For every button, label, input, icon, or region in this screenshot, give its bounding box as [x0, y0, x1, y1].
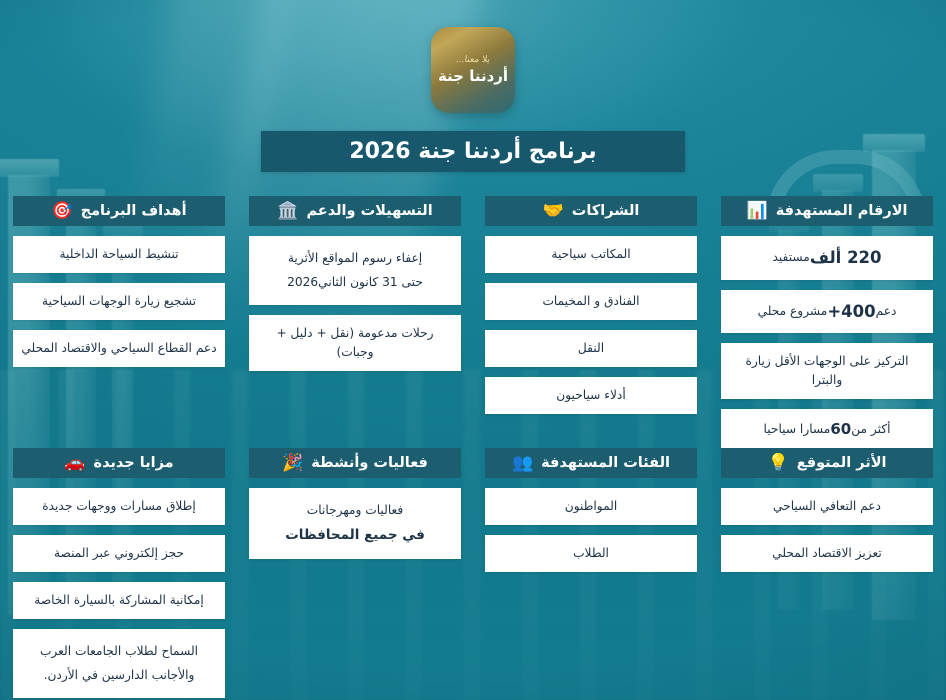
- card-item[interactable]: إطلاق مسارات ووجهات جديدة: [13, 488, 225, 525]
- card-item[interactable]: دعم التعافي السياحي: [721, 488, 933, 525]
- card-item[interactable]: إمكانية المشاركة بالسيارة الخاصة: [13, 582, 225, 619]
- card-item[interactable]: النقل: [485, 330, 697, 367]
- card-item-line: فعاليات ومهرجانات: [307, 501, 403, 520]
- card-item[interactable]: دعم 400+ مشروع محلي: [721, 290, 933, 334]
- card-item-list: إطلاق مسارات ووجهات جديدةحجز إلكتروني عب…: [13, 488, 225, 698]
- card-item[interactable]: المواطنون: [485, 488, 697, 525]
- card-item[interactable]: دعم القطاع السياحي والاقتصاد المحلي: [13, 330, 225, 367]
- classical-building-icon: 🏛️: [277, 203, 298, 220]
- card-title: الأثر المتوقع: [797, 455, 887, 471]
- card-item-list: المكاتب سياحيةالفنادق و المخيماتالنقلأدل…: [485, 236, 697, 414]
- card-header: 🎉فعاليات وأنشطة: [249, 448, 461, 478]
- card-item[interactable]: المكاتب سياحية: [485, 236, 697, 273]
- card-item-list: فعاليات ومهرجاناتفي جميع المحافظات: [249, 488, 461, 559]
- card-header: 🚗مزايا جديدة: [13, 448, 225, 478]
- card-item-line: والأجانب الدارسين في الأردن.: [44, 666, 195, 685]
- info-card: 🎯أهداف البرنامجتنشيط السياحة الداخليةتشج…: [13, 196, 225, 450]
- card-title: الشراكات: [572, 203, 640, 219]
- card-item[interactable]: أدلاء سياحيون: [485, 377, 697, 414]
- card-item[interactable]: حجز إلكتروني عبر المنصة: [13, 535, 225, 572]
- car-icon: 🚗: [64, 455, 85, 472]
- card-item-list: دعم التعافي السياحيتعزيز الاقتصاد المحلي: [721, 488, 933, 572]
- card-item[interactable]: تشجيع زيارة الوجهات السياحية: [13, 283, 225, 320]
- logo-tagline: يلا معنا...: [455, 55, 490, 65]
- card-item[interactable]: التركيز على الوجهات الأقل زيارة والبترا: [721, 343, 933, 399]
- infographic-poster: يلا معنا... أردننا جنة برنامج أردننا جنة…: [0, 0, 946, 700]
- card-item-list: المواطنونالطلاب: [485, 488, 697, 572]
- logo-name: أردننا جنة: [438, 68, 508, 85]
- card-item-line: في جميع المحافظات: [285, 525, 425, 546]
- handshake-icon: 🤝: [543, 203, 564, 220]
- card-item-line: إعفاء رسوم المواقع الأثرية: [288, 249, 422, 268]
- info-card: 👥الفئات المستهدفةالمواطنونالطلاب: [485, 448, 697, 698]
- card-header: 👥الفئات المستهدفة: [485, 448, 697, 478]
- target-icon: 🎯: [51, 203, 72, 220]
- card-item-list: تنشيط السياحة الداخليةتشجيع زيارة الوجها…: [13, 236, 225, 367]
- card-header: 🏛️التسهيلات والدعم: [249, 196, 461, 226]
- info-card: 🏛️التسهيلات والدعمإعفاء رسوم المواقع الأ…: [249, 196, 461, 450]
- card-item[interactable]: السماح لطلاب الجامعات العربوالأجانب الدا…: [13, 629, 225, 698]
- card-item[interactable]: رحلات مدعومة (نقل + دليل + وجبات): [249, 315, 461, 371]
- cards-row-2: 🚗مزايا جديدةإطلاق مسارات ووجهات جديدةحجز…: [0, 448, 946, 698]
- card-item[interactable]: تعزيز الاقتصاد المحلي: [721, 535, 933, 572]
- card-item-list: إعفاء رسوم المواقع الأثريةحتى 31 كانون ا…: [249, 236, 461, 371]
- card-header: 🤝الشراكات: [485, 196, 697, 226]
- card-title: فعاليات وأنشطة: [311, 455, 428, 471]
- card-item[interactable]: تنشيط السياحة الداخلية: [13, 236, 225, 273]
- party-popper-icon: 🎉: [282, 455, 303, 472]
- card-title: التسهيلات والدعم: [306, 203, 432, 219]
- light-bulb-icon: 💡: [768, 455, 789, 472]
- card-header: 📊الارقام المستهدفة: [721, 196, 933, 226]
- busts-in-silhouette-icon: 👥: [512, 455, 533, 472]
- info-card: 🤝الشراكاتالمكاتب سياحيةالفنادق و المخيما…: [485, 196, 697, 450]
- card-item[interactable]: 220 ألف مستفيد: [721, 236, 933, 280]
- card-title: الفئات المستهدفة: [541, 455, 670, 471]
- card-item[interactable]: الطلاب: [485, 535, 697, 572]
- card-item[interactable]: الفنادق و المخيمات: [485, 283, 697, 320]
- card-item[interactable]: فعاليات ومهرجاناتفي جميع المحافظات: [249, 488, 461, 559]
- card-title: أهداف البرنامج: [81, 203, 187, 219]
- card-header: 💡الأثر المتوقع: [721, 448, 933, 478]
- info-card: 🎉فعاليات وأنشطةفعاليات ومهرجاناتفي جميع …: [249, 448, 461, 698]
- cards-row-1: 🎯أهداف البرنامجتنشيط السياحة الداخليةتشج…: [0, 196, 946, 450]
- brand-logo: يلا معنا... أردننا جنة: [431, 27, 515, 113]
- info-card: 🚗مزايا جديدةإطلاق مسارات ووجهات جديدةحجز…: [13, 448, 225, 698]
- card-item-list: 220 ألف مستفيددعم 400+ مشروع محليالتركيز…: [721, 236, 933, 450]
- page-title-text: برنامج أردننا جنة 2026: [349, 139, 596, 164]
- info-card: 📊الارقام المستهدفة220 ألف مستفيددعم 400+…: [721, 196, 933, 450]
- card-title: مزايا جديدة: [94, 455, 174, 471]
- card-item[interactable]: أكثر من 60 مسارا سياحيا: [721, 409, 933, 450]
- card-title: الارقام المستهدفة: [776, 203, 908, 219]
- bar-chart-icon: 📊: [747, 203, 768, 220]
- card-item[interactable]: إعفاء رسوم المواقع الأثريةحتى 31 كانون ا…: [249, 236, 461, 305]
- card-item-line: السماح لطلاب الجامعات العرب: [40, 642, 198, 661]
- card-item-line: حتى 31 كانون الثاني2026: [287, 273, 423, 292]
- info-card: 💡الأثر المتوقعدعم التعافي السياحيتعزيز ا…: [721, 448, 933, 698]
- page-title: برنامج أردننا جنة 2026: [261, 131, 685, 172]
- card-header: 🎯أهداف البرنامج: [13, 196, 225, 226]
